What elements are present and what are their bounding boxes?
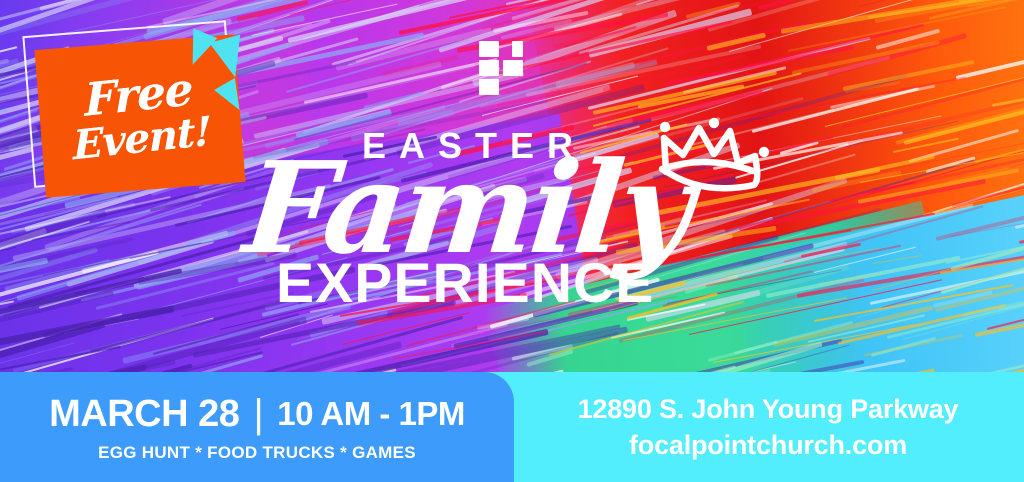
date-time-separator: | bbox=[253, 394, 263, 434]
badge-line-event: Event! bbox=[73, 113, 211, 166]
date-time-row: MARCH 28 | 10 AM - 1PM bbox=[49, 394, 465, 434]
crown-dot-right bbox=[759, 147, 769, 157]
title-subtitle-experience: EXPERIENCE bbox=[276, 255, 780, 311]
info-bar-left: MARCH 28 | 10 AM - 1PM EGG HUNT * FOOD T… bbox=[0, 372, 514, 482]
logo-block-1 bbox=[479, 41, 499, 57]
event-activities: EGG HUNT * FOOD TRUCKS * GAMES bbox=[98, 444, 416, 461]
crown-dot-center bbox=[709, 118, 719, 128]
logo-block-2 bbox=[512, 41, 523, 57]
event-banner: Free Event! EASTER Family EXPERIENCE 128… bbox=[0, 0, 1024, 482]
event-date: MARCH 28 bbox=[49, 395, 239, 433]
logo-block-4 bbox=[503, 60, 523, 76]
logo-block-3 bbox=[479, 60, 499, 76]
title-block: EASTER Family EXPERIENCE bbox=[250, 128, 770, 311]
logo-block-blank bbox=[503, 79, 523, 95]
free-event-badge: Free Event! bbox=[24, 26, 254, 201]
venue-address: 12890 S. John Young Parkway bbox=[578, 396, 959, 423]
focal-point-church-f-logo-icon bbox=[479, 41, 523, 95]
event-time: 10 AM - 1PM bbox=[277, 397, 465, 430]
website-url[interactable]: focalpointchurch.com bbox=[629, 432, 907, 459]
logo-block-5 bbox=[479, 79, 499, 95]
crown-dot-left bbox=[660, 122, 670, 132]
crown-icon bbox=[654, 114, 774, 194]
